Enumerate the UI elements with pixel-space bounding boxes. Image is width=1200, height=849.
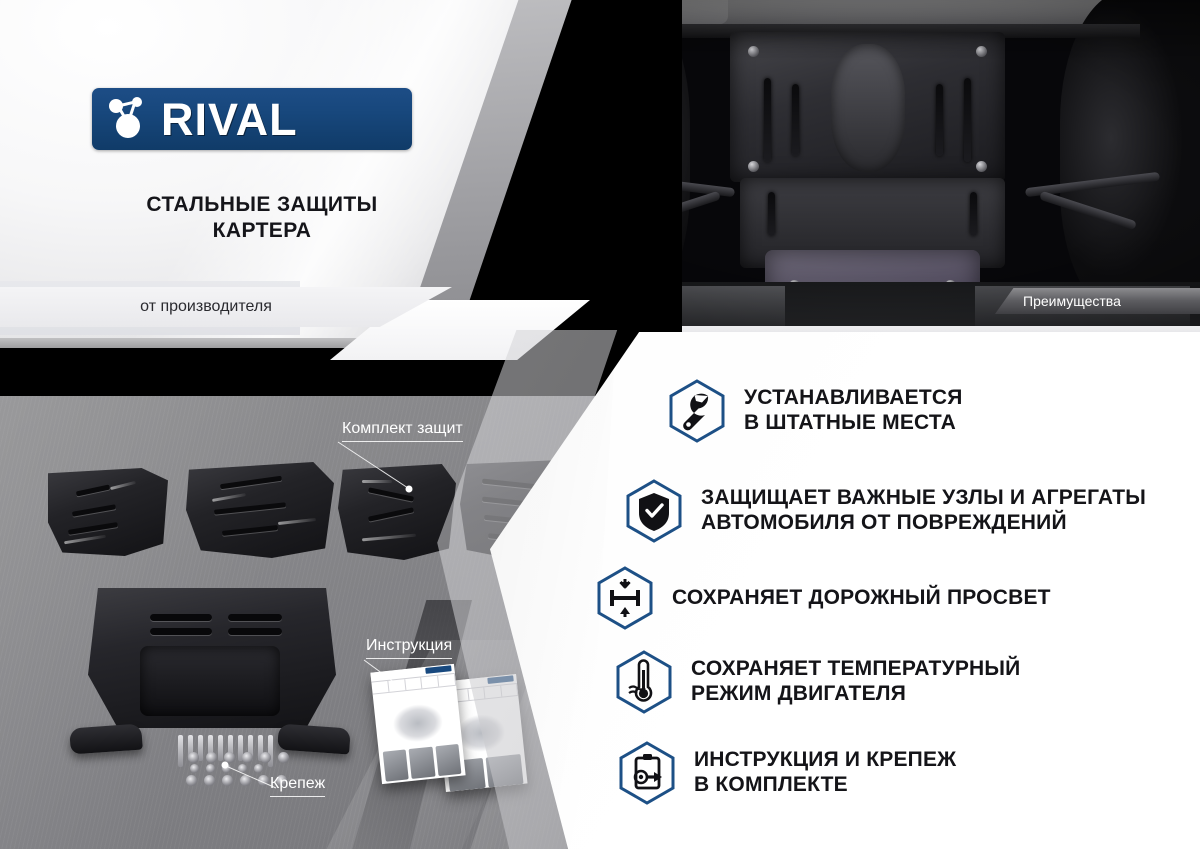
subtitle-label: от производителя: [140, 298, 272, 316]
molecule-icon: [101, 93, 159, 145]
leader-line-hardware: [214, 762, 284, 802]
feature-0-line-2: В ШТАТНЫЕ МЕСТА: [744, 411, 963, 436]
advantages-label: Преимущества: [1023, 293, 1121, 309]
ground-clearance-icon: [596, 566, 654, 630]
callout-kit: Комплект защит: [342, 420, 463, 442]
feature-temperature-text: СОХРАНЯЕТ ТЕМПЕРАТУРНЫЙ РЕЖИМ ДВИГАТЕЛЯ: [691, 657, 1020, 707]
clipboard-bolt-icon: [618, 741, 676, 805]
leader-line-manual: [358, 658, 428, 698]
headline-line-2: КАРТЕРА: [92, 218, 432, 244]
callout-manual: Инструкция: [366, 637, 452, 659]
feature-1-line-2: АВТОМОБИЛЯ ОТ ПОВРЕЖДЕНИЙ: [701, 511, 1146, 536]
wrench-icon: [668, 379, 726, 443]
feature-clearance-text: СОХРАНЯЕТ ДОРОЖНЫЙ ПРОСВЕТ: [672, 586, 1051, 611]
feature-4-line-1: ИНСТРУКЦИЯ И КРЕПЕЖ: [694, 748, 956, 773]
feature-2-line-1: СОХРАНЯЕТ ДОРОЖНЫЙ ПРОСВЕТ: [672, 586, 1051, 611]
feature-3-line-1: СОХРАНЯЕТ ТЕМПЕРАТУРНЫЙ: [691, 657, 1020, 682]
feature-3-line-2: РЕЖИМ ДВИГАТЕЛЯ: [691, 682, 1020, 707]
shield-check-icon: [625, 479, 683, 543]
callout-kit-label: Комплект защит: [342, 420, 463, 437]
feature-protection-text: ЗАЩИЩАЕТ ВАЖНЫЕ УЗЛЫ И АГРЕГАТЫ АВТОМОБИ…: [701, 486, 1146, 536]
feature-1-line-1: ЗАЩИЩАЕТ ВАЖНЫЕ УЗЛЫ И АГРЕГАТЫ: [701, 486, 1146, 511]
page-title: СТАЛЬНЫЕ ЗАЩИТЫ КАРТЕРА: [92, 192, 432, 243]
feature-item-clearance: СОХРАНЯЕТ ДОРОЖНЫЙ ПРОСВЕТ: [596, 566, 1051, 630]
feature-item-protection: ЗАЩИЩАЕТ ВАЖНЫЕ УЗЛЫ И АГРЕГАТЫ АВТОМОБИ…: [625, 479, 1146, 543]
skid-plate-1: [48, 468, 168, 556]
feature-install-text: УСТАНАВЛИВАЕТСЯ В ШТАТНЫЕ МЕСТА: [744, 386, 963, 436]
mounting-bracket-right: [277, 724, 351, 755]
skid-plate-recess: [140, 646, 280, 716]
mounting-bracket-left: [69, 724, 143, 755]
feature-item-kit: ИНСТРУКЦИЯ И КРЕПЕЖ В КОМПЛЕКТЕ: [618, 741, 956, 805]
rival-logo: RIVAL: [92, 88, 412, 150]
feature-4-line-2: В КОМПЛЕКТЕ: [694, 773, 956, 798]
subtitle-strip: от производителя: [0, 287, 452, 327]
feature-0-line-1: УСТАНАВЛИВАЕТСЯ: [744, 386, 963, 411]
advantages-ribbon: Преимущества: [995, 288, 1200, 314]
headline-line-1: СТАЛЬНЫЕ ЗАЩИТЫ: [92, 192, 432, 218]
skid-plate-2: [186, 462, 334, 558]
callout-manual-label: Инструкция: [366, 637, 452, 654]
feature-item-install: УСТАНАВЛИВАЕТСЯ В ШТАТНЫЕ МЕСТА: [668, 379, 963, 443]
leader-line-kit: [330, 440, 440, 500]
thermometer-icon: [615, 650, 673, 714]
promo-banner: Преимущества RIVAL СТАЛЬНЫЕ ЗАЩИТЫ КАРТЕ…: [0, 0, 1200, 849]
main-skid-plate: [88, 588, 336, 728]
logo-wordmark: RIVAL: [161, 97, 298, 142]
feature-item-temperature: СОХРАНЯЕТ ТЕМПЕРАТУРНЫЙ РЕЖИМ ДВИГАТЕЛЯ: [615, 650, 1020, 714]
feature-kit-text: ИНСТРУКЦИЯ И КРЕПЕЖ В КОМПЛЕКТЕ: [694, 748, 956, 798]
